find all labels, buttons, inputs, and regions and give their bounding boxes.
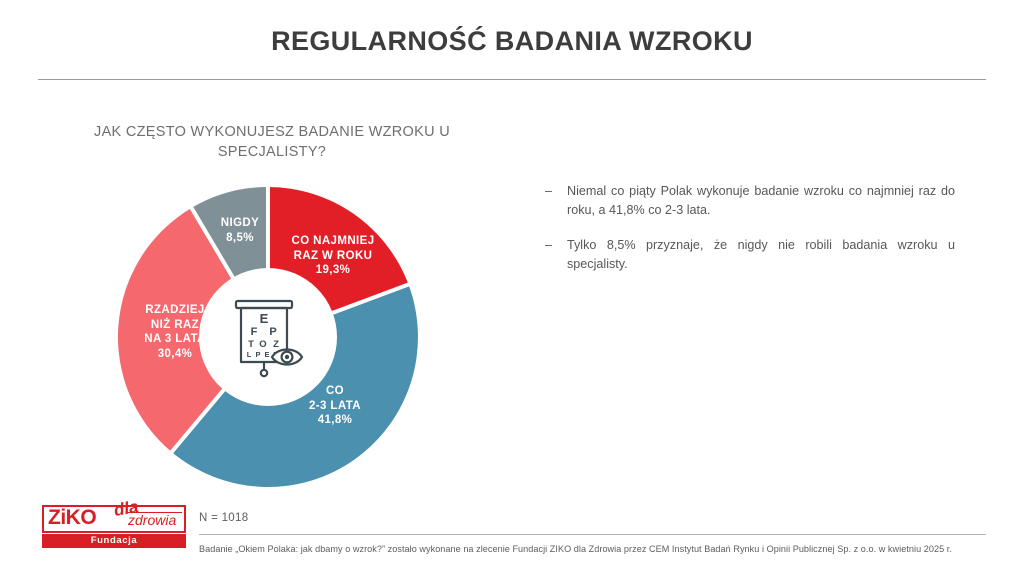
insights-list: – Niemal co piąty Polak wykonuje badanie…: [543, 182, 955, 274]
svg-text:Z: Z: [273, 339, 279, 350]
slice-label-co-najmniej-raz-w-roku: CO NAJMNIEJ RAZ W ROKU 19,3%: [274, 234, 392, 278]
insight-text: Niemal co piąty Polak wykonuje badanie w…: [567, 184, 955, 217]
insight-text: Tylko 8,5% przyznaje, że nigdy nie robil…: [567, 238, 955, 271]
infographic-page: REGULARNOŚĆ BADANIA WZROKU JAK CZĘSTO WY…: [0, 0, 1024, 576]
svg-text:T: T: [248, 339, 254, 350]
sample-size: N = 1018: [199, 512, 248, 524]
logo-fundacja: Fundacja: [42, 534, 186, 548]
methodology-note: Badanie „Okiem Polaka: jak dbamy o wzrok…: [199, 543, 999, 556]
donut-chart: CO NAJMNIEJ RAZ W ROKU 19,3% CO 2-3 LATA…: [108, 186, 428, 491]
chart-question: JAK CZĘSTO WYKONUJESZ BADANIE WZROKU U S…: [62, 122, 482, 162]
logo-zdrowia: zdrowia: [128, 512, 176, 528]
svg-text:O: O: [259, 339, 266, 350]
bullet-marker: –: [545, 236, 552, 255]
slice-label-nigdy: NIGDY 8,5%: [200, 216, 280, 245]
slice-label-co-2-3-lata: CO 2-3 LATA 41,8%: [280, 384, 390, 428]
slice-label-rzadziej-niz-raz-na-3-lata: RZADZIEJ NIŻ RAZ NA 3 LATA 30,4%: [120, 303, 230, 361]
svg-text:F: F: [251, 326, 258, 338]
insight-item: – Niemal co piąty Polak wykonuje badanie…: [543, 182, 955, 220]
eye-chart-icon: E F P T O Z L P E D: [220, 289, 316, 385]
ziko-logo[interactable]: ZiKO dla zdrowia Fundacja: [42, 505, 190, 551]
eye-icon: [272, 350, 302, 365]
svg-text:E: E: [264, 350, 269, 359]
page-title: REGULARNOŚĆ BADANIA WZROKU: [0, 26, 1024, 57]
svg-text:L: L: [247, 350, 252, 359]
logo-brand: ZiKO: [48, 506, 96, 530]
bullet-marker: –: [545, 182, 552, 201]
insight-item: – Tylko 8,5% przyznaje, że nigdy nie rob…: [543, 236, 955, 274]
svg-text:P: P: [269, 326, 276, 338]
svg-text:P: P: [255, 350, 260, 359]
footer-divider: [199, 534, 986, 535]
svg-text:E: E: [260, 311, 269, 326]
header-divider: [38, 79, 986, 80]
